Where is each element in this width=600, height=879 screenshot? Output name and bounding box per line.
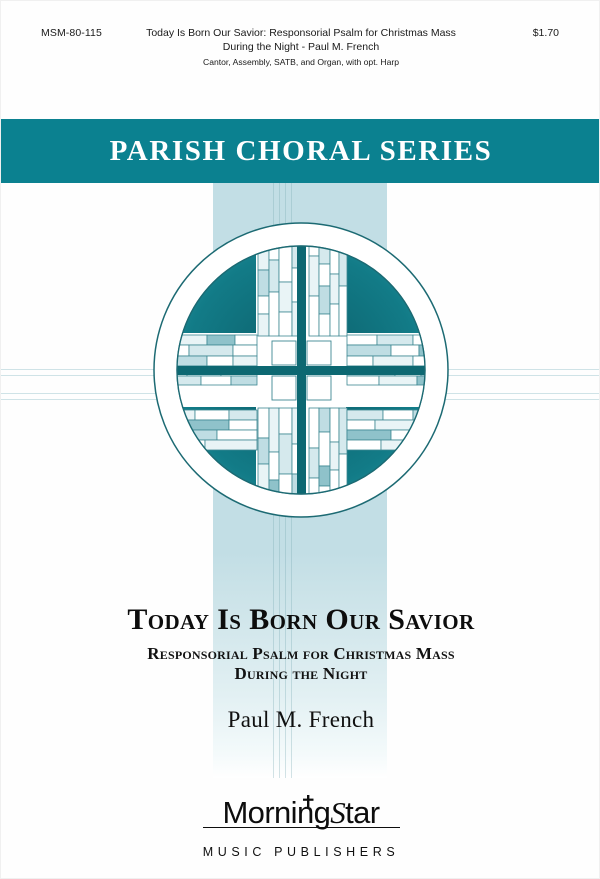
catalog-title-line-2: During the Night - Paul M. French (1, 41, 600, 53)
publisher-logo: MorningStar MUSIC PUBLISHERS (1, 794, 600, 859)
cross-emblem-graphic (151, 220, 451, 520)
series-banner-label: PARISH CHORAL SERIES (110, 135, 493, 168)
morningstar-logo-icon: MorningStar (176, 794, 426, 838)
title-block: Today Is Born Our Savior Responsorial Ps… (1, 604, 600, 683)
price-label: $1.70 (533, 27, 559, 39)
page-title: Today Is Born Our Savior (1, 604, 600, 635)
composer-name: Paul M. French (1, 707, 600, 733)
publisher-tagline: MUSIC PUBLISHERS (1, 845, 600, 859)
catalog-header-row: MSM-80-115 Today Is Born Our Savior: Res… (1, 27, 600, 41)
subtitle-line-2: During the Night (1, 664, 600, 684)
catalog-header: MSM-80-115 Today Is Born Our Savior: Res… (1, 27, 600, 41)
subtitle-block: Responsorial Psalm for Christmas Mass Du… (1, 644, 600, 683)
series-banner: PARISH CHORAL SERIES (1, 119, 600, 183)
catalog-title-line-1: Today Is Born Our Savior: Responsorial P… (1, 27, 600, 39)
cross-emblem (151, 220, 451, 520)
svg-text:MorningStar: MorningStar (222, 795, 379, 830)
cover-page: MSM-80-115 Today Is Born Our Savior: Res… (0, 0, 600, 879)
scoring-line: Cantor, Assembly, SATB, and Organ, with … (1, 57, 600, 67)
subtitle-line-1: Responsorial Psalm for Christmas Mass (147, 644, 454, 663)
